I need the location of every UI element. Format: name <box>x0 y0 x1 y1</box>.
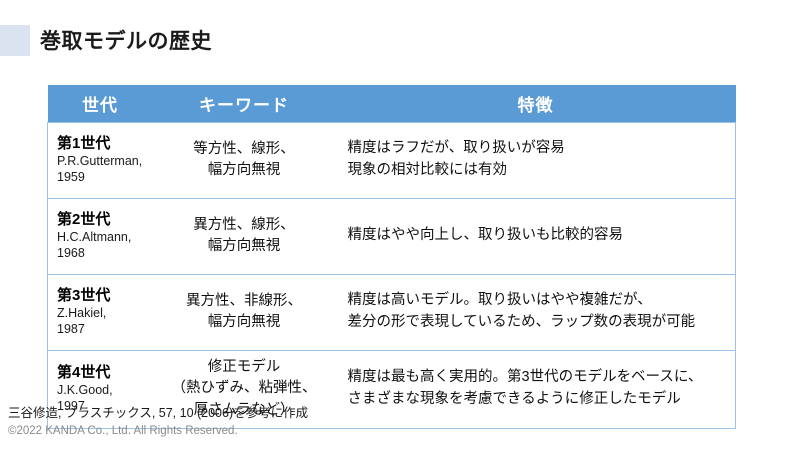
table-row: 第2世代 H.C.Altmann, 1968 異方性、線形、 幅方向無視 精度は… <box>48 199 736 275</box>
generation-author: Z.Hakiel, <box>57 305 153 321</box>
feature-line: 現象の相対比較には有効 <box>348 160 736 182</box>
keyword-line: 幅方向無視 <box>153 312 336 333</box>
generation-author: P.R.Gutterman, <box>57 153 153 169</box>
page-title: 巻取モデルの歴史 <box>40 25 212 55</box>
cell-feature: 精度は高いモデル。取り扱いはやや複雑だが、 差分の形で表現しているため、ラップ数… <box>336 275 736 351</box>
feature-line: さまざまな現象を考慮できるように修正したモデル <box>348 389 736 411</box>
slide-header: 巻取モデルの歴史 <box>0 24 212 56</box>
table-row: 第3世代 Z.Hakiel, 1987 異方性、非線形、 幅方向無視 精度は高い… <box>48 275 736 351</box>
generation-year: 1959 <box>57 169 153 185</box>
keyword-line: 修正モデル <box>153 357 336 378</box>
keyword-line: 幅方向無視 <box>153 236 336 257</box>
feature-line: 精度は最も高く実用的。第3世代のモデルをベースに、 <box>348 367 736 389</box>
keyword-line: 幅方向無視 <box>153 160 336 181</box>
cell-generation: 第1世代 P.R.Gutterman, 1959 <box>48 123 153 199</box>
table-header-row: 世代 キーワード 特徴 <box>48 85 736 123</box>
generation-name: 第4世代 <box>57 364 153 382</box>
cell-feature: 精度はラフだが、取り扱いが容易 現象の相対比較には有効 <box>336 123 736 199</box>
feature-line: 差分の形で表現しているため、ラップ数の表現が可能 <box>348 312 736 334</box>
cell-keyword: 異方性、非線形、 幅方向無視 <box>153 275 336 351</box>
column-header-keyword: キーワード <box>153 85 336 123</box>
history-table-container: 世代 キーワード 特徴 第1世代 P.R.Gutterman, 1959 等方性… <box>47 85 735 429</box>
cell-generation: 第3世代 Z.Hakiel, 1987 <box>48 275 153 351</box>
feature-line: 精度は高いモデル。取り扱いはやや複雑だが、 <box>348 290 736 312</box>
cell-generation: 第2世代 H.C.Altmann, 1968 <box>48 199 153 275</box>
column-header-generation: 世代 <box>48 85 153 123</box>
feature-line: 精度はラフだが、取り扱いが容易 <box>348 138 736 160</box>
cell-keyword: 等方性、線形、 幅方向無視 <box>153 123 336 199</box>
source-citation: 三谷修造, プラスチックス, 57, 10 (2006)を参考に作成 <box>8 404 308 423</box>
column-header-feature: 特徴 <box>336 85 736 123</box>
keyword-line: 異方性、非線形、 <box>153 291 336 312</box>
generation-author: H.C.Altmann, <box>57 229 153 245</box>
feature-line: 精度はやや向上し、取り扱いも比較的容易 <box>348 225 736 247</box>
cell-keyword: 異方性、線形、 幅方向無視 <box>153 199 336 275</box>
keyword-line: 等方性、線形、 <box>153 139 336 160</box>
copyright-notice: ©2022 KANDA Co., Ltd. All Rights Reserve… <box>8 423 308 440</box>
keyword-line: 異方性、線形、 <box>153 215 336 236</box>
generation-year: 1987 <box>57 321 153 337</box>
generation-name: 第2世代 <box>57 211 153 229</box>
generation-name: 第3世代 <box>57 287 153 305</box>
model-history-table: 世代 キーワード 特徴 第1世代 P.R.Gutterman, 1959 等方性… <box>47 85 736 429</box>
keyword-line: （熱ひずみ、粘弾性、 <box>153 378 336 399</box>
table-row: 第1世代 P.R.Gutterman, 1959 等方性、線形、 幅方向無視 精… <box>48 123 736 199</box>
generation-name: 第1世代 <box>57 135 153 153</box>
table-header: 世代 キーワード 特徴 <box>48 85 736 123</box>
generation-author: J.K.Good, <box>57 382 153 398</box>
title-accent-block <box>0 25 30 56</box>
cell-feature: 精度は最も高く実用的。第3世代のモデルをベースに、 さまざまな現象を考慮できるよ… <box>336 351 736 429</box>
slide-footer: 三谷修造, プラスチックス, 57, 10 (2006)を参考に作成 ©2022… <box>8 404 308 440</box>
table-body: 第1世代 P.R.Gutterman, 1959 等方性、線形、 幅方向無視 精… <box>48 123 736 429</box>
cell-feature: 精度はやや向上し、取り扱いも比較的容易 <box>336 199 736 275</box>
generation-year: 1968 <box>57 245 153 261</box>
